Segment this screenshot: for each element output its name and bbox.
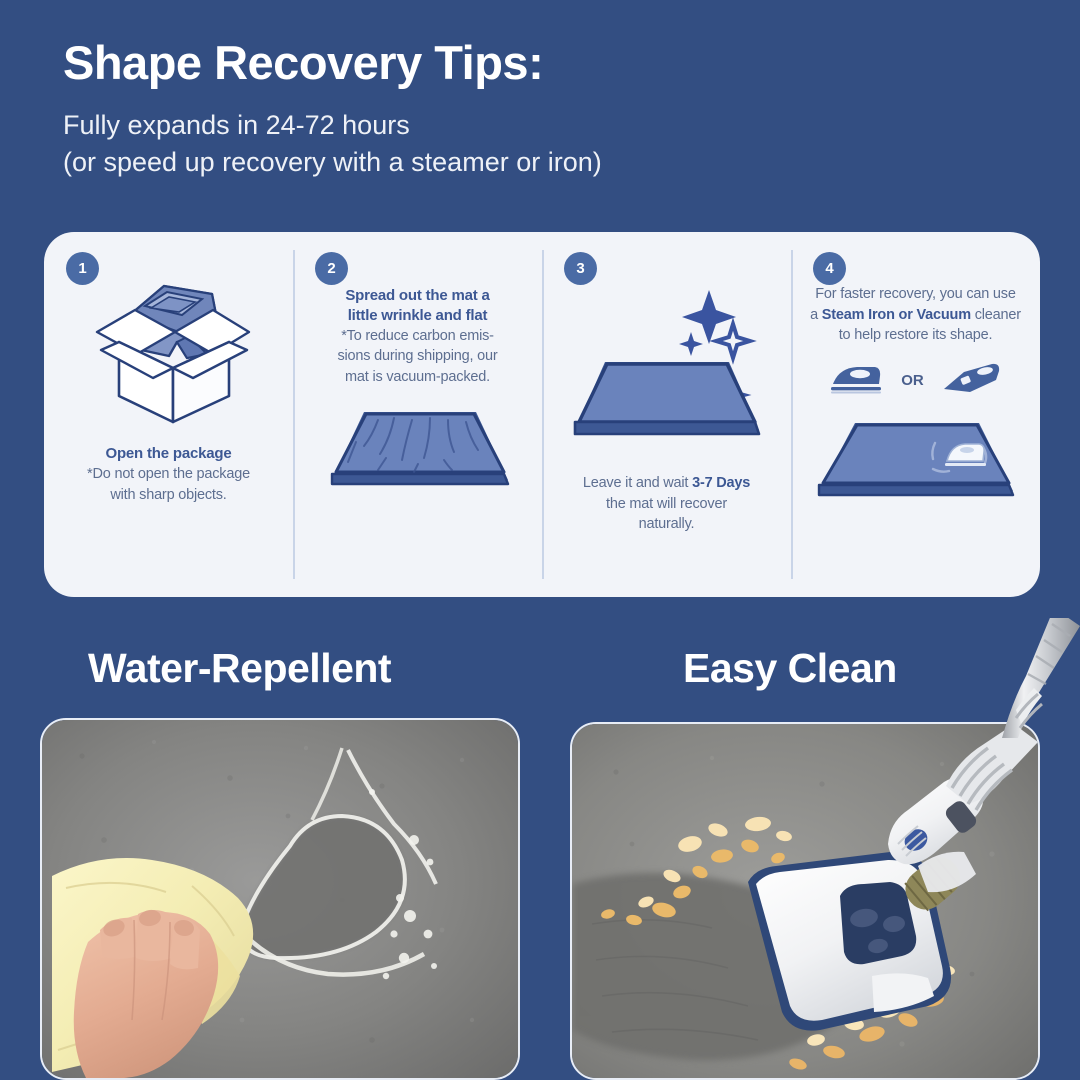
step-4-body-prefix: a bbox=[810, 307, 822, 323]
steam-iron-icon bbox=[827, 358, 885, 403]
step-4-appliance-icons: OR bbox=[827, 358, 1004, 403]
step-2-heading-line-1: Spread out the mat a bbox=[311, 286, 524, 306]
step-3-body-line-2: the mat will recover bbox=[556, 494, 777, 515]
step-1: 1 bbox=[44, 232, 293, 597]
feature-heading-easy-clean: Easy Clean bbox=[683, 645, 897, 692]
step-3-body-line-1: Leave it and wait 3-7 Days bbox=[556, 473, 777, 494]
step-4-caption: For faster recovery, you can use a Steam… bbox=[805, 284, 1026, 346]
step-1-caption: Open the package *Do not open the packag… bbox=[58, 444, 279, 505]
step-2-body-line-3: mat is vacuum-packed. bbox=[311, 367, 524, 388]
step-1-body-line-1: *Do not open the package bbox=[58, 464, 279, 485]
subtitle-line-1: Fully expands in 24-72 hours bbox=[63, 107, 1023, 144]
mat-with-steam-iron-icon bbox=[807, 413, 1025, 505]
step-2-heading-line-2: little wrinkle and flat bbox=[311, 306, 524, 326]
step-2-caption: Spread out the mat a little wrinkle and … bbox=[307, 286, 528, 388]
step-3-body-prefix: Leave it and wait bbox=[583, 475, 692, 491]
step-3-caption: Leave it and wait 3-7 Days the mat will … bbox=[556, 473, 777, 535]
step-2: 2 Spread out the mat a little wrinkle an… bbox=[293, 232, 542, 597]
page-title: Shape Recovery Tips: bbox=[63, 38, 1023, 87]
flat-mat-with-sparkles-icon bbox=[561, 262, 773, 447]
step-3-body-bold: 3-7 Days bbox=[692, 475, 750, 491]
wrinkled-mat-icon bbox=[320, 402, 516, 494]
step-number-badge-2: 2 bbox=[315, 252, 348, 285]
header: Shape Recovery Tips: Fully expands in 24… bbox=[63, 38, 1023, 181]
step-1-body-line-2: with sharp objects. bbox=[58, 485, 279, 506]
photo-easy-clean bbox=[570, 722, 1040, 1080]
subtitle-line-2: (or speed up recovery with a steamer or … bbox=[63, 144, 1023, 181]
open-cardboard-box-with-vacuum-packed-mat-icon bbox=[79, 270, 259, 430]
step-4-body-line-1: For faster recovery, you can use bbox=[807, 284, 1024, 305]
step-number-badge-4: 4 bbox=[813, 252, 846, 285]
vacuum-head-icon bbox=[940, 358, 1004, 403]
step-4-body-line-2: a Steam Iron or Vacuum cleaner bbox=[807, 305, 1024, 326]
step-4-body-line-3: to help restore its shape. bbox=[807, 325, 1024, 346]
page-subtitle: Fully expands in 24-72 hours (or speed u… bbox=[63, 107, 1023, 181]
step-4: 4 For faster recovery, you can use a Ste… bbox=[791, 232, 1040, 597]
step-2-body-line-1: *To reduce carbon emis- bbox=[311, 326, 524, 347]
step-2-body-line-2: sions during shipping, our bbox=[311, 346, 524, 367]
step-3-body-line-3: naturally. bbox=[556, 514, 777, 535]
or-label: OR bbox=[901, 372, 924, 389]
step-number-badge-1: 1 bbox=[66, 252, 99, 285]
step-4-body-bold: Steam Iron or Vacuum bbox=[822, 307, 971, 323]
step-4-body-suffix: cleaner bbox=[971, 307, 1021, 323]
step-3: 3 Leave it and wait 3-7 Days bbox=[542, 232, 791, 597]
step-1-heading: Open the package bbox=[58, 444, 279, 464]
vacuum-handle-extension bbox=[1002, 618, 1080, 738]
photo-water-repellent bbox=[40, 718, 520, 1080]
step-number-badge-3: 3 bbox=[564, 252, 597, 285]
steps-card: 1 bbox=[44, 232, 1040, 597]
feature-heading-water-repellent: Water-Repellent bbox=[88, 645, 391, 692]
